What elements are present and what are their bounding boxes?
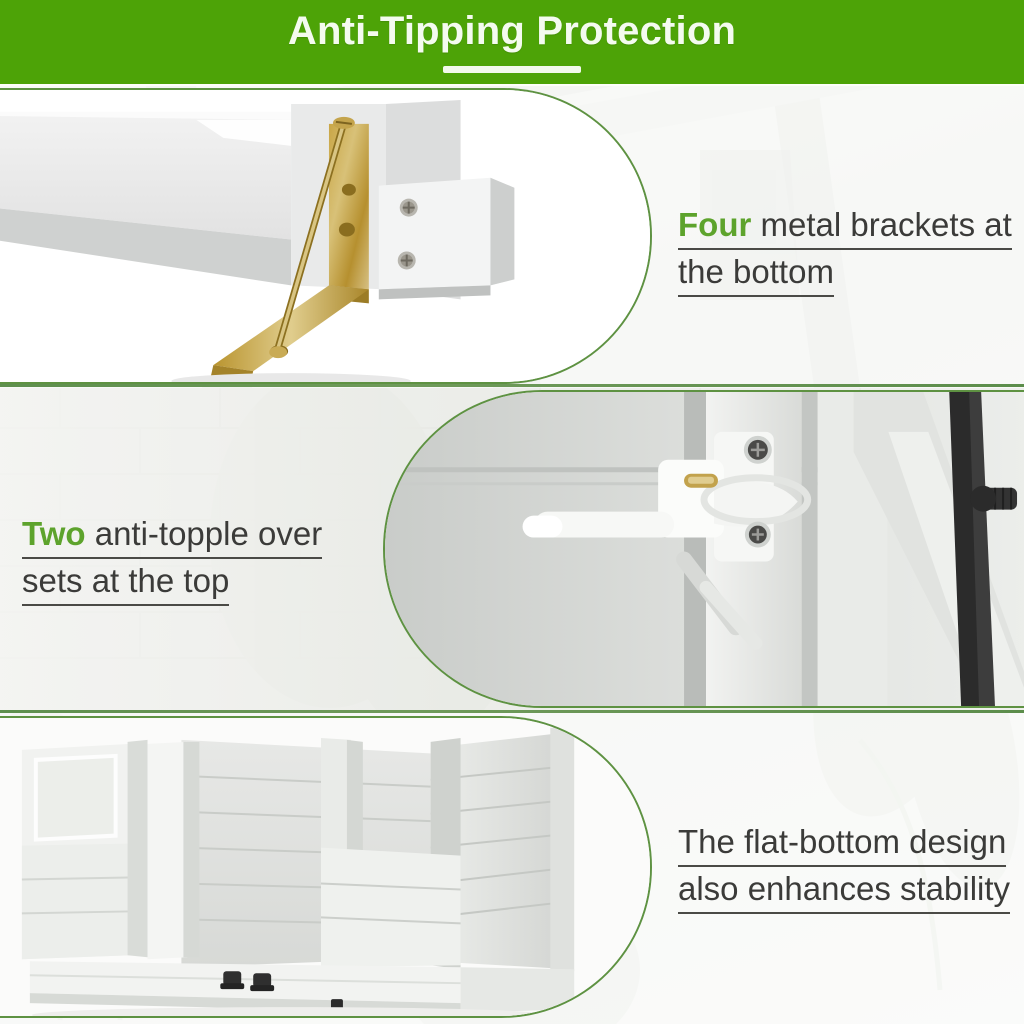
caption-brackets-line1-rest: metal brackets at (751, 206, 1011, 243)
caption-flat-bottom-line1: The flat-bottom design (678, 820, 1006, 867)
caption-anti-topple-line1: Two anti-topple over (22, 512, 322, 559)
band-separator-1 (0, 384, 1024, 387)
title-underline-bar (443, 66, 581, 73)
photo-metal-bracket (0, 90, 650, 384)
photo-panel-flat-bottom (0, 716, 652, 1018)
caption-brackets-highlight: Four (678, 206, 751, 243)
band-separator-2 (0, 710, 1024, 713)
caption-brackets-line2: the bottom (678, 250, 834, 297)
page-title: Anti-Tipping Protection (0, 9, 1024, 54)
caption-anti-topple-line2: sets at the top (22, 559, 229, 606)
caption-flat-bottom: The flat-bottom design also enhances sta… (678, 820, 1010, 914)
caption-brackets: Four metal brackets at the bottom (678, 203, 1012, 297)
photo-panel-anti-topple (383, 390, 1024, 708)
caption-anti-topple-line1-rest: anti-topple over (86, 515, 323, 552)
infographic-page: Anti-Tipping Protection (0, 0, 1024, 1024)
caption-brackets-line1: Four metal brackets at (678, 203, 1012, 250)
header-banner: Anti-Tipping Protection (0, 0, 1024, 86)
caption-flat-bottom-line2: also enhances stability (678, 867, 1010, 914)
caption-anti-topple: Two anti-topple over sets at the top (22, 512, 322, 606)
caption-anti-topple-highlight: Two (22, 515, 86, 552)
photo-anti-topple-latch (385, 392, 1024, 708)
header-bottom-edge (0, 84, 1024, 86)
photo-panel-brackets (0, 88, 652, 384)
caption-flat-bottom-line1-rest: The flat-bottom design (678, 823, 1006, 860)
photo-flat-bottom-base (0, 718, 650, 1018)
